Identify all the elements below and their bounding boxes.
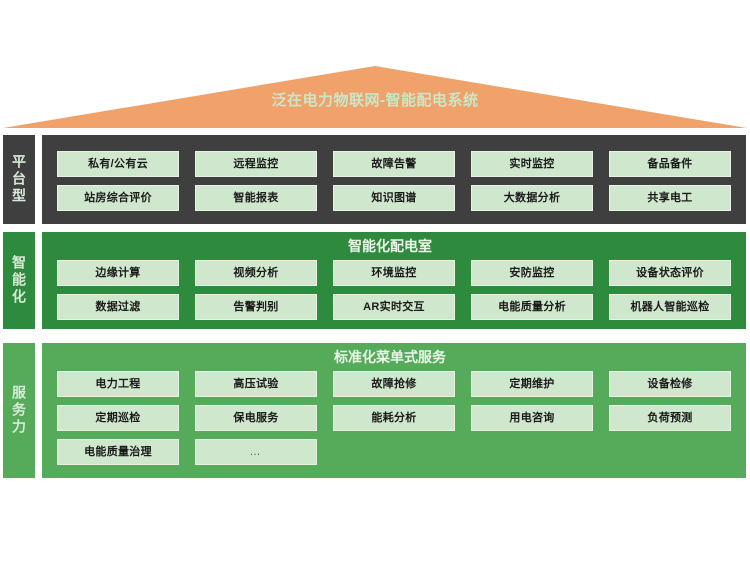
tile-platform-big-data-analysis[interactable]: 大数据分析 <box>471 185 593 211</box>
tile-intelligent-environment-monitoring[interactable]: 环境监控 <box>333 260 455 286</box>
tile-intelligent-equipment-status-evaluation[interactable]: 设备状态评价 <box>609 260 731 286</box>
section-title-service: 标准化菜单式服务 <box>38 348 742 366</box>
service-row-3: 电能质量治理 … <box>57 439 731 465</box>
roof-title: 泛在电力物联网-智能配电系统 <box>0 92 750 110</box>
intelligent-row-2: 数据过滤 告警判别 AR实时交互 电能质量分析 机器人智能巡检 <box>57 294 731 320</box>
tile-intelligent-video-analysis[interactable]: 视频分析 <box>195 260 317 286</box>
tile-intelligent-robot-smart-inspection[interactable]: 机器人智能巡检 <box>609 294 731 320</box>
side-label-intelligent: 智能化 <box>3 232 35 329</box>
tile-platform-realtime-monitoring[interactable]: 实时监控 <box>471 151 593 177</box>
side-label-platform: 平台型 <box>3 135 35 224</box>
tile-platform-fault-alarm[interactable]: 故障告警 <box>333 151 455 177</box>
tile-intelligent-ar-realtime-interaction[interactable]: AR实时交互 <box>333 294 455 320</box>
tile-service-power-engineering[interactable]: 电力工程 <box>57 371 179 397</box>
tile-intelligent-edge-computing[interactable]: 边缘计算 <box>57 260 179 286</box>
tile-intelligent-alarm-discrimination[interactable]: 告警判别 <box>195 294 317 320</box>
side-label-service: 服务力 <box>3 343 35 478</box>
tile-service-energy-consumption-analysis[interactable]: 能耗分析 <box>333 405 455 431</box>
tile-service-high-voltage-test[interactable]: 高压试验 <box>195 371 317 397</box>
platform-row-2: 站房综合评价 智能报表 知识图谱 大数据分析 共享电工 <box>57 185 731 211</box>
tile-intelligent-power-quality-analysis[interactable]: 电能质量分析 <box>471 294 593 320</box>
tile-service-regular-inspection[interactable]: 定期巡检 <box>57 405 179 431</box>
side-label-service-text: 服务力 <box>11 385 27 436</box>
section-intelligent: 智能化配电室 边缘计算 视频分析 环境监控 安防监控 设备状态评价 数据过滤 告… <box>42 232 746 329</box>
tile-platform-spare-parts[interactable]: 备品备件 <box>609 151 731 177</box>
tile-platform-substation-evaluation[interactable]: 站房综合评价 <box>57 185 179 211</box>
tile-intelligent-security-monitoring[interactable]: 安防监控 <box>471 260 593 286</box>
tile-platform-remote-monitoring[interactable]: 远程监控 <box>195 151 317 177</box>
tile-service-load-forecasting[interactable]: 负荷预测 <box>609 405 731 431</box>
tile-service-power-guarantee[interactable]: 保电服务 <box>195 405 317 431</box>
section-platform: 私有/公有云 远程监控 故障告警 实时监控 备品备件 站房综合评价 智能报表 知… <box>42 135 746 224</box>
side-label-intelligent-text: 智能化 <box>11 255 27 306</box>
service-row-2: 定期巡检 保电服务 能耗分析 用电咨询 负荷预测 <box>57 405 731 431</box>
tile-intelligent-data-filtering[interactable]: 数据过滤 <box>57 294 179 320</box>
tile-service-fault-repair[interactable]: 故障抢修 <box>333 371 455 397</box>
tile-service-regular-maintenance[interactable]: 定期维护 <box>471 371 593 397</box>
tile-service-more[interactable]: … <box>195 439 317 465</box>
section-service: 标准化菜单式服务 电力工程 高压试验 故障抢修 定期维护 设备检修 定期巡检 保… <box>42 343 746 478</box>
tile-platform-private-public-cloud[interactable]: 私有/公有云 <box>57 151 179 177</box>
tile-platform-knowledge-graph[interactable]: 知识图谱 <box>333 185 455 211</box>
tile-platform-shared-electrician[interactable]: 共享电工 <box>609 185 731 211</box>
section-title-intelligent: 智能化配电室 <box>38 237 742 255</box>
intelligent-row-1: 边缘计算 视频分析 环境监控 安防监控 设备状态评价 <box>57 260 731 286</box>
platform-row-1: 私有/公有云 远程监控 故障告警 实时监控 备品备件 <box>57 151 731 177</box>
diagram-canvas: 泛在电力物联网-智能配电系统 平台型 私有/公有云 远程监控 故障告警 实时监控… <box>0 0 750 562</box>
service-row-1: 电力工程 高压试验 故障抢修 定期维护 设备检修 <box>57 371 731 397</box>
tile-service-electricity-consultation[interactable]: 用电咨询 <box>471 405 593 431</box>
tile-service-power-quality-treatment[interactable]: 电能质量治理 <box>57 439 179 465</box>
tile-platform-smart-report[interactable]: 智能报表 <box>195 185 317 211</box>
tile-service-equipment-overhaul[interactable]: 设备检修 <box>609 371 731 397</box>
side-label-platform-text: 平台型 <box>11 154 27 205</box>
